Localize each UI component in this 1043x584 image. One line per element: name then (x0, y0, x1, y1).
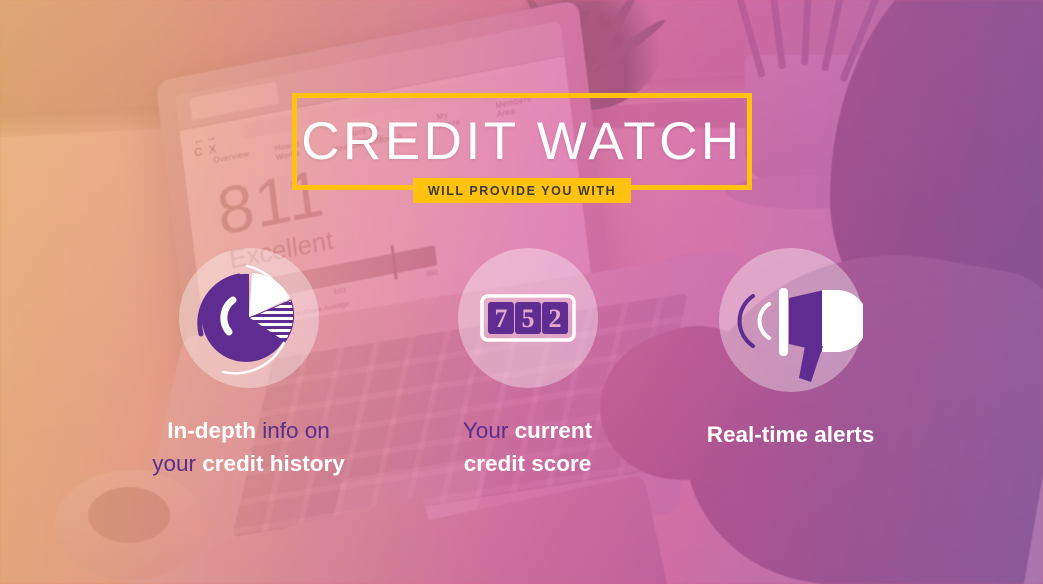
caption-bold: Real-time alerts (707, 422, 875, 447)
feature-caption: In-depth info on your credit history (116, 414, 381, 480)
caption-bold: current (515, 418, 593, 443)
feature-icon-circle: 7 5 2 (458, 248, 598, 388)
feature-caption-line-1: Real-time alerts (663, 418, 918, 451)
caption-light: Your (463, 418, 508, 443)
score-digit-2: 5 (521, 304, 534, 333)
score-digit-1: 7 (494, 304, 507, 333)
feature-item-credit-score: 7 5 2 Your current credit score (400, 248, 655, 480)
feature-icon-circle (719, 248, 863, 392)
feature-caption: Your current credit score (400, 414, 655, 480)
feature-caption-line-2: your credit history (116, 447, 381, 480)
feature-item-credit-history: In-depth info on your credit history (116, 248, 381, 480)
feature-icon-circle (179, 248, 319, 388)
caption-bold: credit score (464, 451, 592, 476)
feature-item-real-time-alerts: Real-time alerts (663, 248, 918, 451)
page-title: CREDIT WATCH (292, 93, 752, 190)
feature-caption-line-2: credit score (400, 447, 655, 480)
subtitle-banner: WILL PROVIDE YOU WITH (413, 178, 631, 203)
subtitle-text: WILL PROVIDE YOU WITH (428, 184, 616, 198)
credit-score-digits-icon: 7 5 2 (458, 248, 598, 388)
caption-light: your (152, 451, 196, 476)
caption-bold: In-depth (167, 418, 256, 443)
score-digit-3: 2 (548, 304, 561, 333)
caption-light: info on (262, 418, 330, 443)
feature-caption: Real-time alerts (663, 418, 918, 451)
megaphone-alert-icon (719, 248, 863, 392)
pie-chart-icon (179, 248, 319, 388)
credit-watch-promo-slide: ←→ C X Overview How It Works More By Cat… (0, 0, 1043, 584)
feature-caption-line-1: Your current (400, 414, 655, 447)
caption-bold: credit history (202, 451, 345, 476)
feature-caption-line-1: In-depth info on (116, 414, 381, 447)
